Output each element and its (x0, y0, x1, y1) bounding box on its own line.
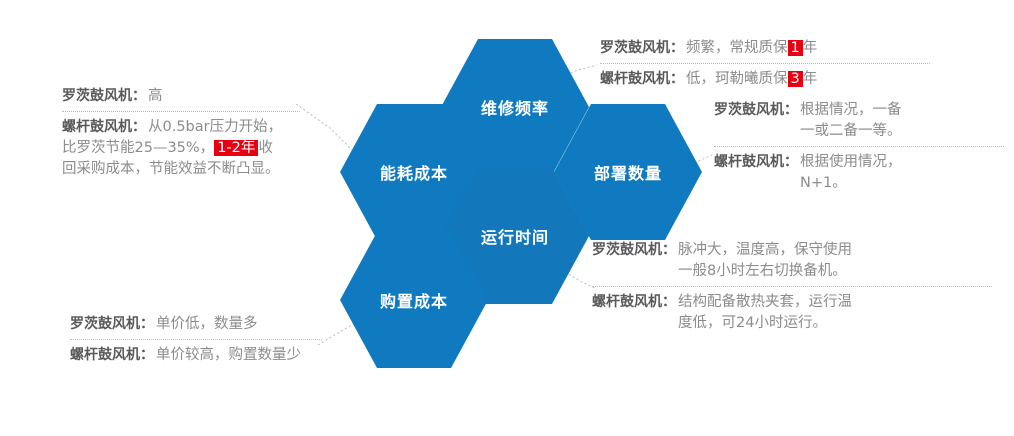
annotation-deployment-quantity-screw: 螺杆鼓风机： 根据使用情况，N+1。 (714, 152, 1004, 194)
annotation-roots-line2: 一或二备一等。 (800, 121, 1004, 142)
annotation-value-screw: 根据使用情况，N+1。 (800, 152, 1004, 194)
annotation-maintenance-frequency-screw: 螺杆鼓风机： 低，珂勒曦质保3年 (600, 69, 930, 90)
annotation-divider (592, 286, 992, 287)
annotation-key-screw: 螺杆鼓风机： (600, 69, 684, 90)
annotation-screw-line1: 根据使用情况， (800, 152, 1004, 173)
annotation-key-screw: 螺杆鼓风机： (62, 119, 146, 135)
annotation-purchase-cost-roots: 罗茨鼓风机： 单价低，数量多 (70, 314, 322, 335)
annotation-value-screw: 低，珂勒曦质保3年 (686, 69, 930, 90)
annotation-screw-line1: 结构配备散热夹套，运行温 (678, 292, 992, 313)
annotation-screw-line1: 从0.5bar压力开始， (148, 119, 282, 135)
infographic-canvas: 维修频率 能耗成本 部署数量 运行时间 购置成本 罗茨鼓风机： 高 螺杆鼓风机：… (0, 0, 1014, 436)
hexagon-label-deployment-quantity: 部署数量 (594, 160, 662, 184)
hexagon-label-purchase-cost: 购置成本 (380, 288, 448, 312)
annotation-running-time: 罗茨鼓风机： 脉冲大，温度高，保守使用一般8小时左右切换备机。 螺杆鼓风机： 结… (592, 240, 992, 334)
annotation-purchase-cost-screw: 螺杆鼓风机： 单价较高，购置数量少 (70, 345, 322, 366)
annotation-screw-line2: 度低，可24小时运行。 (678, 313, 992, 334)
annotation-value-roots: 根据情况，一备一或二备一等。 (800, 100, 1004, 142)
annotation-value-screw: 螺杆鼓风机：从0.5bar压力开始，比罗茨节能25—35%，1-2年收回采购成本… (62, 117, 300, 180)
hexagon-label-maintenance-frequency: 维修频率 (481, 95, 549, 119)
annotation-value-roots: 脉冲大，温度高，保守使用一般8小时左右切换备机。 (678, 240, 992, 282)
annotation-deployment-quantity-roots: 罗茨鼓风机： 根据情况，一备一或二备一等。 (714, 100, 1004, 142)
annotation-key-roots: 罗茨鼓风机： (592, 240, 676, 261)
annotation-divider (70, 339, 322, 340)
annotation-key-screw: 螺杆鼓风机： (70, 345, 154, 366)
annotation-key-screw: 螺杆鼓风机： (592, 292, 676, 313)
annotation-screw-text: 低，珂勒曦质保 (686, 71, 788, 87)
annotation-divider (600, 63, 930, 64)
annotation-roots-unit: 年 (803, 40, 818, 56)
annotation-value-roots: 高 (148, 86, 300, 107)
annotation-value-screw: 单价较高，购置数量少 (156, 345, 322, 366)
annotation-value-roots: 频繁，常规质保1年 (686, 38, 930, 59)
annotation-screw-line2b: 收 (258, 140, 273, 156)
annotation-screw-highlight: 1-2年 (214, 140, 258, 156)
annotation-running-time-screw: 螺杆鼓风机： 结构配备散热夹套，运行温度低，可24小时运行。 (592, 292, 992, 334)
annotation-maintenance-frequency-roots: 罗茨鼓风机： 频繁，常规质保1年 (600, 38, 930, 59)
annotation-roots-line1: 脉冲大，温度高，保守使用 (678, 240, 992, 261)
annotation-deployment-quantity: 罗茨鼓风机： 根据情况，一备一或二备一等。 螺杆鼓风机： 根据使用情况，N+1。 (714, 100, 1004, 194)
annotation-screw-line3: 回采购成本，节能效益不断凸显。 (62, 159, 300, 180)
annotation-running-time-roots: 罗茨鼓风机： 脉冲大，温度高，保守使用一般8小时左右切换备机。 (592, 240, 992, 282)
annotation-key-roots: 罗茨鼓风机： (600, 38, 684, 59)
annotation-energy-cost-roots: 罗茨鼓风机： 高 (62, 86, 300, 107)
annotation-roots-text: 频繁，常规质保 (686, 40, 788, 56)
annotation-energy-cost-screw: 螺杆鼓风机：从0.5bar压力开始，比罗茨节能25—35%，1-2年收回采购成本… (62, 117, 300, 180)
annotation-divider (714, 146, 1004, 147)
annotation-screw-unit: 年 (803, 71, 818, 87)
annotation-purchase-cost: 罗茨鼓风机： 单价低，数量多 螺杆鼓风机： 单价较高，购置数量少 (70, 314, 322, 366)
annotation-energy-cost: 罗茨鼓风机： 高 螺杆鼓风机：从0.5bar压力开始，比罗茨节能25—35%，1… (62, 86, 300, 180)
annotation-key-screw: 螺杆鼓风机： (714, 152, 798, 173)
annotation-value-roots: 单价低，数量多 (156, 314, 322, 335)
hexagon-label-energy-cost: 能耗成本 (380, 160, 448, 184)
annotation-screw-line2: N+1。 (800, 173, 1004, 194)
annotation-key-roots: 罗茨鼓风机： (62, 86, 146, 107)
annotation-screw-line2a: 比罗茨节能25—35%， (62, 140, 214, 156)
annotation-roots-highlight: 1 (788, 40, 803, 56)
annotation-maintenance-frequency: 罗茨鼓风机： 频繁，常规质保1年 螺杆鼓风机： 低，珂勒曦质保3年 (600, 38, 930, 90)
annotation-key-roots: 罗茨鼓风机： (70, 314, 154, 335)
annotation-screw-highlight: 3 (788, 71, 803, 87)
annotation-value-screw: 结构配备散热夹套，运行温度低，可24小时运行。 (678, 292, 992, 334)
annotation-key-roots: 罗茨鼓风机： (714, 100, 798, 121)
annotation-divider (62, 111, 300, 112)
annotation-roots-line2: 一般8小时左右切换备机。 (678, 261, 992, 282)
annotation-roots-line1: 根据情况，一备 (800, 100, 1004, 121)
hexagon-label-running-time: 运行时间 (481, 224, 549, 248)
